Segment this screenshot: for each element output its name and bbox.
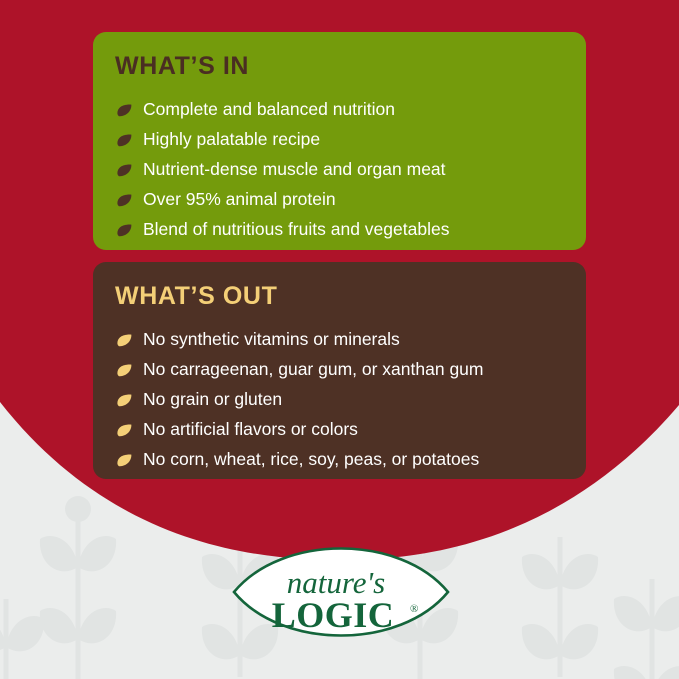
leaf-icon [115, 451, 134, 470]
list-item-label: No artificial flavors or colors [143, 421, 358, 439]
whats-in-title: WHAT’S IN [115, 54, 562, 79]
list-item-label: No grain or gluten [143, 391, 282, 409]
brand-logo: nature's LOGIC ® [232, 532, 450, 652]
list-item: Nutrient-dense muscle and organ meat [115, 155, 562, 185]
list-item-label: Over 95% animal protein [143, 191, 336, 209]
list-item-label: No corn, wheat, rice, soy, peas, or pota… [143, 451, 479, 469]
list-item: Blend of nutritious fruits and vegetable… [115, 215, 562, 245]
leaf-icon [115, 191, 134, 210]
leaf-icon [115, 161, 134, 180]
list-item-label: No synthetic vitamins or minerals [143, 331, 400, 349]
list-item: No synthetic vitamins or minerals [115, 325, 562, 355]
leaf-icon [115, 331, 134, 350]
registered-trademark-icon: ® [410, 603, 418, 615]
list-item: No carrageenan, guar gum, or xanthan gum [115, 355, 562, 385]
leaf-icon [115, 131, 134, 150]
leaf-icon [115, 101, 134, 120]
whats-out-list: No synthetic vitamins or minerals No car… [115, 325, 562, 475]
list-item-label: Nutrient-dense muscle and organ meat [143, 161, 446, 179]
logo-serif-word: LOGIC [272, 595, 395, 635]
list-item-label: Highly palatable recipe [143, 131, 320, 149]
list-item: No artificial flavors or colors [115, 415, 562, 445]
list-item-label: No carrageenan, guar gum, or xanthan gum [143, 361, 483, 379]
leaf-icon [115, 421, 134, 440]
list-item: No corn, wheat, rice, soy, peas, or pota… [115, 445, 562, 475]
product-infographic: WHAT’S IN Complete and balanced nutritio… [0, 0, 679, 679]
list-item-label: Blend of nutritious fruits and vegetable… [143, 221, 449, 239]
leaf-icon [115, 221, 134, 240]
list-item: No grain or gluten [115, 385, 562, 415]
list-item: Complete and balanced nutrition [115, 95, 562, 125]
list-item: Over 95% animal protein [115, 185, 562, 215]
whats-in-panel: WHAT’S IN Complete and balanced nutritio… [93, 32, 586, 250]
whats-out-title: WHAT’S OUT [115, 284, 562, 309]
list-item-label: Complete and balanced nutrition [143, 101, 395, 119]
list-item: Highly palatable recipe [115, 125, 562, 155]
whats-out-panel: WHAT’S OUT No synthetic vitamins or mine… [93, 262, 586, 479]
leaf-icon [115, 361, 134, 380]
leaf-icon [115, 391, 134, 410]
whats-in-list: Complete and balanced nutrition Highly p… [115, 95, 562, 245]
